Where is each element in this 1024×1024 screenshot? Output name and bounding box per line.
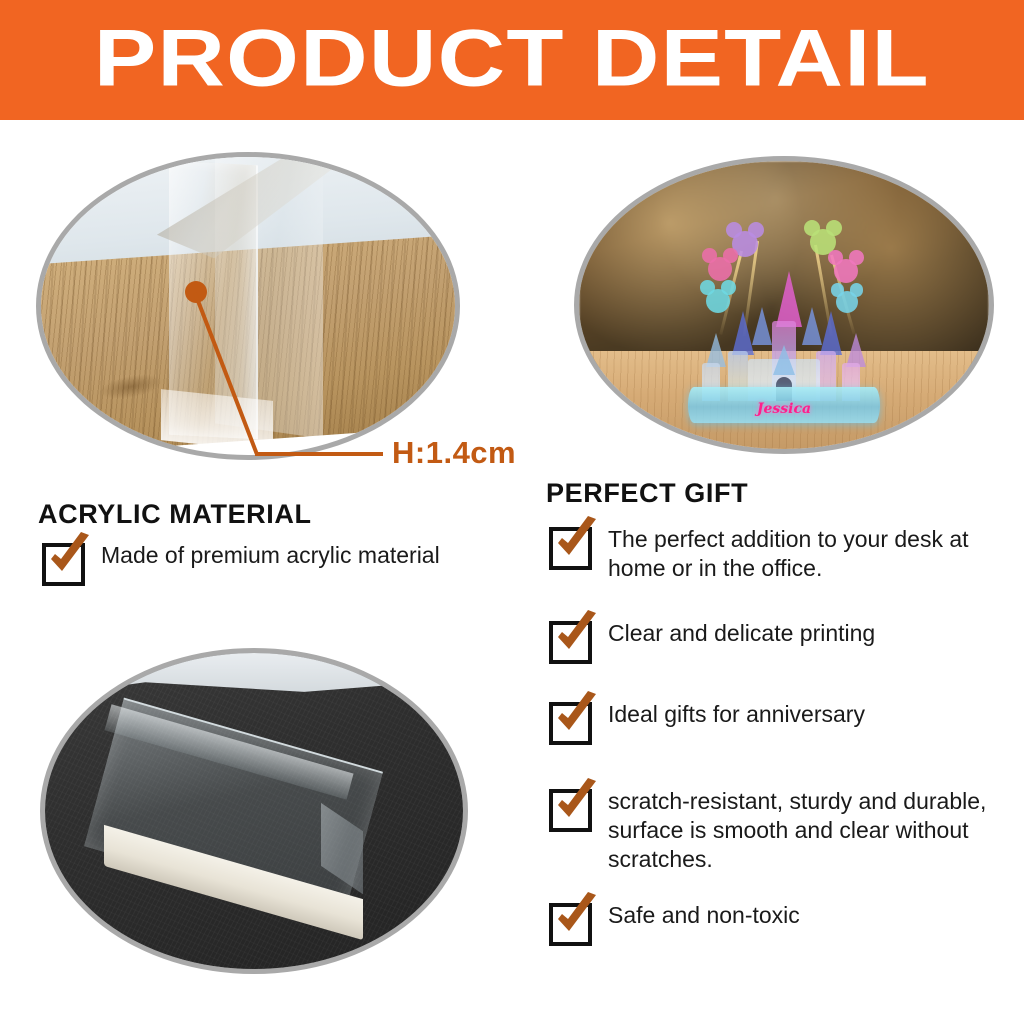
feature-item: Ideal gifts for anniversary: [549, 700, 865, 745]
feature-label: Ideal gifts for anniversary: [608, 700, 865, 729]
castle-spire-left-mid: [732, 311, 754, 355]
photo-castle-lamp: Jessica: [574, 156, 994, 454]
checkbox-icon[interactable]: [549, 621, 592, 664]
checkbox-icon[interactable]: [549, 903, 592, 946]
feature-item: Clear and delicate printing: [549, 619, 875, 664]
acrylic-edge-scene: [41, 157, 455, 455]
checkmark-icon: [549, 890, 605, 946]
photo-acrylic-block: [40, 648, 468, 974]
page-header-banner: PRODUCT DETAIL: [0, 0, 1024, 120]
feature-label: The perfect addition to your desk at hom…: [608, 525, 1010, 583]
mickey-balloon-pink: [708, 257, 732, 281]
checkbox-icon[interactable]: [42, 543, 85, 586]
checkmark-icon: [549, 689, 605, 745]
feature-item: Safe and non-toxic: [549, 901, 800, 946]
section-heading-perfect-gift: PERFECT GIFT: [546, 478, 748, 509]
mickey-balloon-cyan: [706, 289, 730, 313]
feature-label: scratch-resistant, sturdy and durable, s…: [608, 787, 1010, 874]
castle-spire-right-mid: [820, 311, 842, 355]
feature-item: scratch-resistant, sturdy and durable, s…: [549, 787, 1010, 874]
acrylic-castle: Jessica: [684, 223, 884, 423]
section-heading-acrylic-material: ACRYLIC MATERIAL: [38, 499, 312, 530]
wood-grain-knot: [98, 371, 164, 404]
thickness-callout-label: H:1.4cm: [392, 435, 516, 471]
photo-acrylic-edge: [36, 152, 460, 460]
castle-spire-right-outer: [846, 333, 866, 367]
checkmark-icon: [549, 608, 605, 664]
castle-spire-right-inner: [802, 307, 822, 345]
castle-scene: Jessica: [579, 161, 989, 449]
feature-label: Made of premium acrylic material: [101, 541, 440, 570]
checkbox-icon[interactable]: [549, 789, 592, 832]
castle-gate-arch-spire: [773, 345, 795, 375]
checkmark-icon: [549, 776, 605, 832]
castle-spire-center: [776, 271, 802, 327]
mickey-balloon-magenta: [834, 259, 858, 283]
checkbox-icon[interactable]: [549, 527, 592, 570]
engraved-name: Jessica: [757, 401, 811, 417]
feature-label: Safe and non-toxic: [608, 901, 800, 930]
castle-spire-left-inner: [752, 307, 772, 345]
thickness-callout-line-horizontal: [255, 452, 383, 456]
castle-spire-left-outer: [706, 333, 726, 367]
feature-item: The perfect addition to your desk at hom…: [549, 525, 1010, 583]
checkmark-icon: [42, 530, 98, 586]
page-title: PRODUCT DETAIL: [94, 19, 930, 100]
feature-item: Made of premium acrylic material: [42, 541, 440, 586]
checkmark-icon: [549, 514, 605, 570]
mickey-balloon-teal: [836, 291, 858, 313]
checkbox-icon[interactable]: [549, 702, 592, 745]
feature-label: Clear and delicate printing: [608, 619, 875, 648]
